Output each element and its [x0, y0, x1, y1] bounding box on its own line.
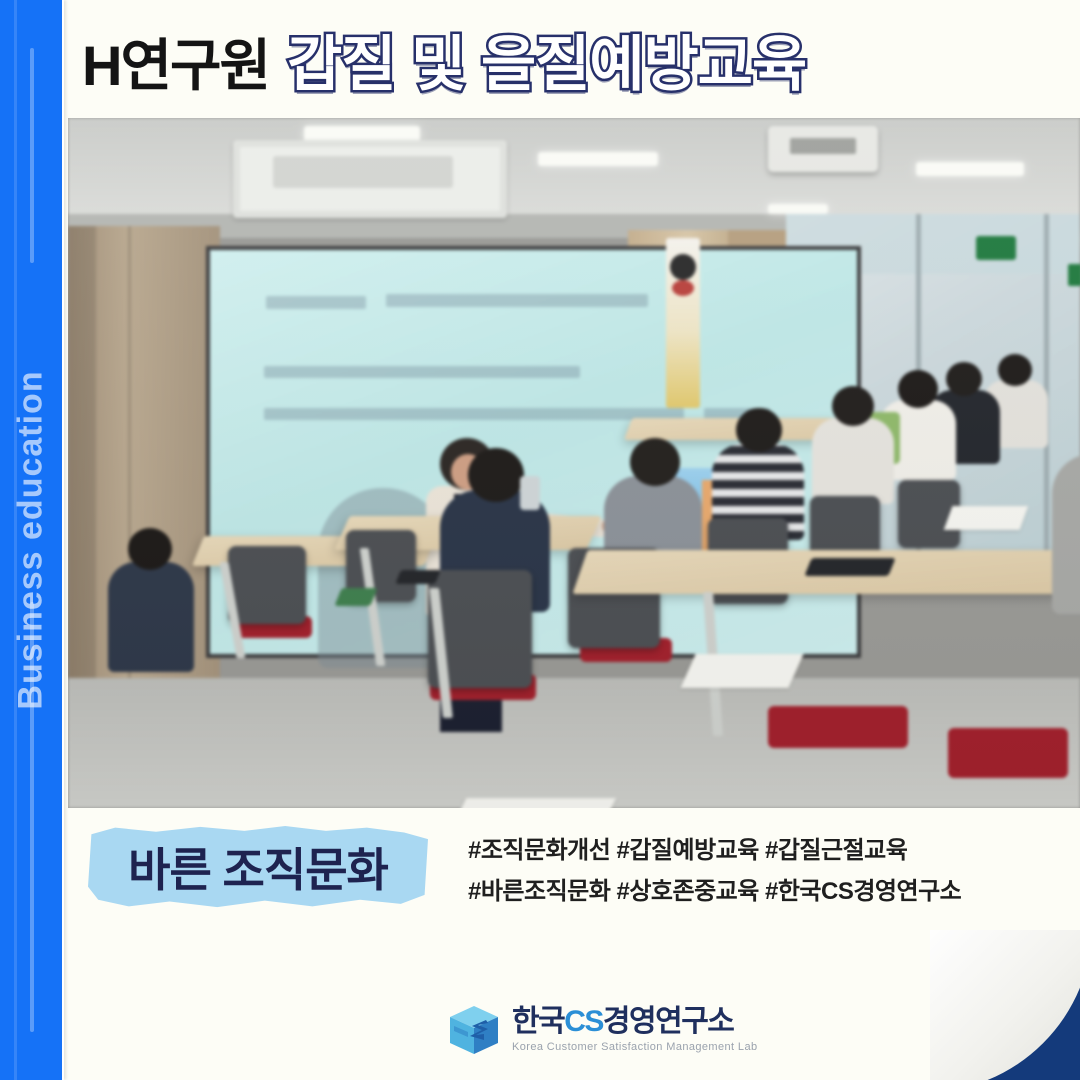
lecture-photo — [68, 118, 1080, 808]
badge-label: 바른 조직문화 — [88, 832, 428, 902]
logo-name-cs: CS — [564, 1005, 603, 1038]
logo-text: 한국CS경영연구소 Korea Customer Satisfaction Ma… — [512, 1007, 757, 1053]
logo-name-part1: 한국 — [512, 1005, 564, 1038]
sidebar-rail: Business education — [0, 0, 62, 1080]
page-curl-decoration — [930, 930, 1080, 1080]
hashtag-line-1: #조직문화개선 #갑질예방교육 #갑질근절교육 — [468, 830, 1068, 871]
logo-name: 한국CS경영연구소 — [512, 1007, 757, 1037]
logo-subtitle: Korea Customer Satisfaction Management L… — [512, 1042, 757, 1053]
title-topic: 갑질 및 을질예방교육 — [287, 16, 806, 103]
page-title: H연구원 갑질 및 을질예방교육 — [68, 16, 806, 103]
company-logo: 한국CS경영연구소 Korea Customer Satisfaction Ma… — [448, 1004, 757, 1056]
rail-divider-top-icon — [30, 48, 34, 263]
cube-logo-icon — [448, 1004, 500, 1056]
header: H연구원 갑질 및 을질예방교육 — [68, 0, 1080, 118]
sidebar-label: Business education — [12, 370, 51, 709]
logo-name-part2: 경영연구소 — [603, 1005, 734, 1038]
hashtag-block: #조직문화개선 #갑질예방교육 #갑질근절교육 #바른조직문화 #상호존중교육 … — [468, 830, 1068, 913]
photo-overlay — [68, 118, 1080, 808]
hashtag-line-2: #바른조직문화 #상호존중교육 #한국CS경영연구소 — [468, 871, 1068, 912]
title-client: H연구원 — [82, 21, 269, 102]
highlight-badge: 바른 조직문화 — [88, 820, 438, 916]
poster-card: Business education H연구원 갑질 및 을질예방교육 — [0, 0, 1080, 1080]
